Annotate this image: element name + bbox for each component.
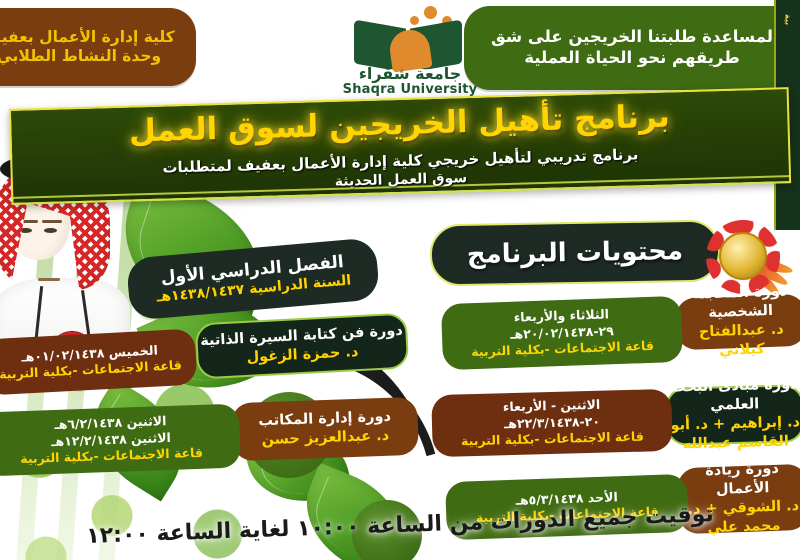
- figure-eye: [44, 228, 57, 233]
- logo-dot-icon: [410, 16, 419, 25]
- slogan-box: لمساعدة طلبتنا الخريجين على شق طريقهم نح…: [464, 6, 794, 90]
- timing-note-text: توقيت جميع الدورات من الساعة ١٠:٠٠ لغاية…: [86, 502, 714, 549]
- slogan-line-2: طريقهم نحو الحياة العملية: [524, 48, 740, 69]
- course-presenter: د. عبدالفتاح كيلاني: [676, 320, 800, 362]
- course-title-box: دورة إدارة المكاتب د. عبدالعزيز حسن: [231, 397, 419, 461]
- logo-name-arabic: جامعة شقراء: [340, 64, 480, 83]
- slogan-line-1: لمساعدة طلبتنا الخريجين على شق: [491, 27, 773, 48]
- edge-strip-text: بية: [784, 14, 793, 25]
- course-date-box: الثلاثاء والأربعاء ٢٩-٢٠/٠٢/١٤٣٨هـ قاعة …: [441, 296, 683, 370]
- rosette-core: [719, 232, 767, 280]
- course-title: دورة المقابلة الشخصية: [675, 282, 800, 324]
- course-date-box: الاثنين - الأربعاء ٢٠-٢٢/٣/١٤٣٨هـ قاعة ا…: [431, 389, 673, 457]
- contents-heading: محتويات البرنامج: [429, 219, 720, 286]
- course-title-box: دورة المقابلة الشخصية د. عبدالفتاح كيلان…: [675, 294, 800, 351]
- university-logo: جامعة شقراء Shaqra University: [340, 2, 480, 98]
- course-date-box: الاثنين ٦/٢/١٤٣٨هـ الاثنين ١٢/٢/١٤٣٨هـ ق…: [0, 404, 241, 477]
- course-date-box: الخميس ٠١/٠٢/١٤٣٨هـ قاعة الاجتماعات -بكل…: [0, 328, 197, 395]
- logo-dot-icon: [424, 6, 437, 19]
- course-title-box: دورة مبادئ البحث العلمي د. إبراهيم + د. …: [665, 384, 800, 446]
- course-presenter: د. عبدالعزيز حسن: [261, 427, 389, 450]
- figure-mouth: [38, 278, 60, 281]
- organisation-box: كلية إدارة الأعمال بعفيف وحدة النشاط الط…: [0, 8, 196, 86]
- course-presenter: د. إبراهيم + د. أبو القاسم عبدالله: [668, 413, 800, 454]
- figure-brow: [42, 220, 62, 223]
- course-title-box: دورة فن كتابة السيرة الذاتية د. حمزة الز…: [195, 312, 410, 379]
- course-venue: قاعة الاجتماعات -بكلية التربية: [471, 338, 654, 361]
- logo-name-english: Shaqra University: [340, 82, 480, 97]
- course-title: دورة مبادئ البحث العلمي: [667, 376, 800, 417]
- course-venue: قاعة الاجتماعات -بكلية التربية: [20, 445, 203, 468]
- poster-root: كلية إدارة الأعمال بعفيف وحدة النشاط الط…: [0, 0, 800, 560]
- contents-heading-label: محتويات البرنامج: [467, 235, 684, 271]
- org-line-1: كلية إدارة الأعمال بعفيف: [0, 28, 175, 47]
- course-venue: قاعة الاجتماعات -بكلية التربية: [461, 429, 644, 450]
- org-line-2: وحدة النشاط الطلابي: [0, 47, 161, 66]
